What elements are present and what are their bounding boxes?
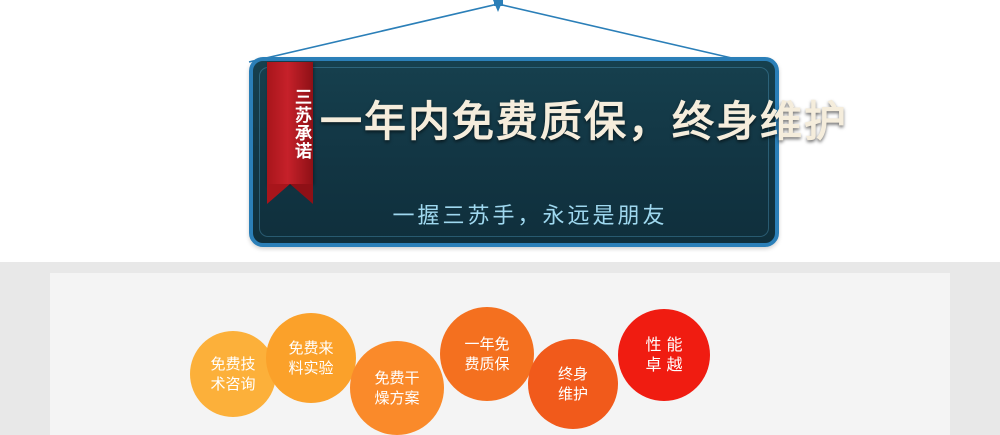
process-circle: 性 能 卓 越 <box>618 309 710 401</box>
page-root: 三苏承诺 一年内免费质保，终身维护 一握三苏手，永远是朋友 免费技 术咨询免费来… <box>0 0 1000 435</box>
process-circle: 一年免 费质保 <box>440 307 534 401</box>
process-circle-label: 免费来 料实验 <box>266 338 356 378</box>
banner-section: 三苏承诺 一年内免费质保，终身维护 一握三苏手，永远是朋友 <box>0 0 1000 262</box>
process-circle-label: 终身 维护 <box>528 364 618 404</box>
process-section: 免费技 术咨询免费来 料实验免费干 燥方案一年免 费质保终身 维护性 能 卓 越 <box>0 262 1000 435</box>
process-circle-label: 免费技 术咨询 <box>190 354 276 394</box>
ribbon-tail <box>267 184 313 204</box>
process-panel: 免费技 术咨询免费来 料实验免费干 燥方案一年免 费质保终身 维护性 能 卓 越 <box>50 273 950 435</box>
process-circle: 免费来 料实验 <box>266 313 356 403</box>
process-circle: 免费干 燥方案 <box>350 341 444 435</box>
process-circle: 免费技 术咨询 <box>190 331 276 417</box>
process-circle-label: 免费干 燥方案 <box>350 368 444 408</box>
process-circle-label: 性 能 卓 越 <box>618 335 710 375</box>
process-circle-label: 一年免 费质保 <box>440 334 534 374</box>
banner-subline: 一握三苏手，永远是朋友 <box>300 203 760 231</box>
ribbon-label: 三苏承诺 <box>267 74 313 174</box>
banner-headline: 一年内免费质保，终身维护 <box>320 96 760 148</box>
process-circle: 终身 维护 <box>528 339 618 429</box>
ribbon-badge: 三苏承诺 <box>267 62 313 202</box>
